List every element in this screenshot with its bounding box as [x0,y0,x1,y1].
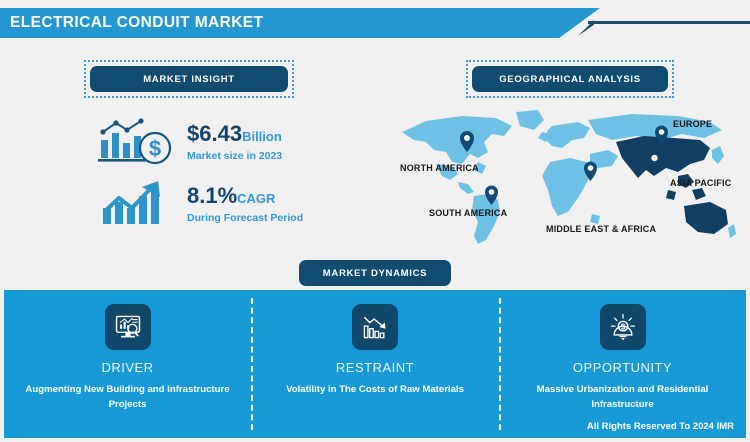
market-dynamics-label: MARKET DYNAMICS [299,260,451,286]
kpi-market-size-subtitle: Market size in 2023 [187,150,282,162]
dynamics-description-restraint: Volatility in The Costs of Raw Materials [270,383,480,398]
dynamics-description-driver: Augmenting New Building and Infrastructu… [23,383,233,413]
svg-text:$: $ [620,323,625,332]
lightbulb-dollar-icon: $ [600,304,646,350]
monitor-analytics-icon [105,304,151,350]
kpi-cagr-number: 8.1% [187,183,237,208]
infographic-root: ELECTRICAL CONDUIT MARKET MARKET INSIGHT… [0,0,750,442]
market-insight-label: MARKET INSIGHT [90,66,288,92]
dynamics-title-driver: DRIVER [101,360,153,375]
geographical-analysis-section-header: GEOGRAPHICAL ANALYSIS [466,60,674,98]
market-dynamics-band: DRIVER Augmenting New Building and Infra… [4,290,746,438]
dynamics-card-driver: DRIVER Augmenting New Building and Infra… [4,290,251,438]
bar-chart-dollar-icon: $ [95,116,181,168]
dynamics-card-restraint: RESTRAINT Volatility in The Costs of Raw… [251,290,499,438]
kpi-market-size-unit: Billion [242,129,282,144]
svg-text:$: $ [149,136,161,161]
growth-arrow-icon [95,178,181,230]
page-title: ELECTRICAL CONDUIT MARKET [10,14,263,32]
geographical-analysis-label: GEOGRAPHICAL ANALYSIS [472,66,668,92]
kpi-market-size: $ $6.43Billion Market size in 2023 [95,116,282,168]
dynamics-title-opportunity: OPPORTUNITY [573,360,672,375]
dynamics-card-opportunity: $ OPPORTUNITY Massive Urbanization and R… [499,290,746,438]
map-label-middle-east-africa: MIDDLE EAST & AFRICA [546,224,656,234]
header-rule [588,21,750,24]
kpi-cagr: 8.1%CAGR During Forecast Period [95,178,303,230]
map-label-asia-pacific: ASIA PACIFIC [670,178,731,188]
dynamics-description-opportunity: Massive Urbanization and Residential Inf… [518,383,728,413]
market-insight-section-header: MARKET INSIGHT [84,60,294,98]
kpi-market-size-value: $6.43Billion [187,122,282,145]
header: ELECTRICAL CONDUIT MARKET [0,8,750,38]
dynamics-title-restraint: RESTRAINT [336,360,414,375]
kpi-market-size-number: $6.43 [187,121,242,146]
kpi-cagr-value: 8.1%CAGR [187,184,303,207]
declining-chart-icon [352,304,398,350]
copyright-notice: All Rights Reserved To 2024 IMR [587,421,734,432]
kpi-market-size-text: $6.43Billion Market size in 2023 [187,122,282,161]
kpi-cagr-text: 8.1%CAGR During Forecast Period [187,184,303,223]
kpi-cagr-unit: CAGR [237,191,275,206]
map-label-europe: EUROPE [673,119,712,129]
map-label-south-america: SOUTH AMERICA [429,208,507,218]
map-label-north-america: NORTH AMERICA [400,163,479,173]
header-banner: ELECTRICAL CONDUIT MARKET [0,8,600,38]
kpi-cagr-subtitle: During Forecast Period [187,212,303,224]
